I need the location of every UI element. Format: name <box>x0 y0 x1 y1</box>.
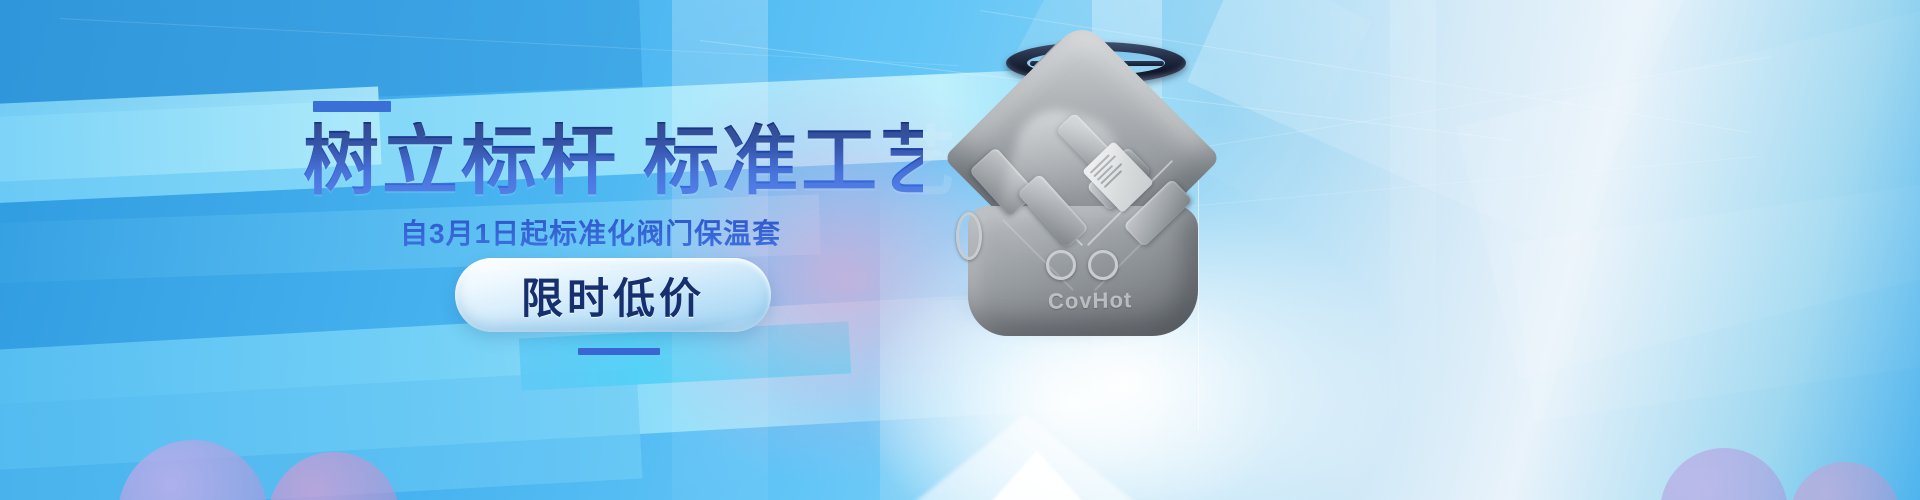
product-brand-mark: CovHot <box>1048 287 1133 314</box>
product-image-valve-insulation-jacket: CovHot <box>900 0 1330 440</box>
banner-subtitle: 自3月1日起标准化阀门保温套 <box>400 212 781 252</box>
cta-button-label: 限时低价 <box>521 265 705 326</box>
banner-headline: 树立标杆 标准工艺 <box>303 122 923 203</box>
background-wedge-4 <box>1510 179 1920 421</box>
accent-underbar-icon <box>578 348 660 355</box>
background-wedge-3 <box>1456 1 1920 379</box>
background-circle-3 <box>1660 448 1788 500</box>
background-band-column-3 <box>1390 0 1436 500</box>
jacket-d-ring <box>1088 250 1118 280</box>
background-circle-4 <box>1790 462 1900 500</box>
banner-text-block: 树立标杆 标准工艺 自3月1日起标准化阀门保温套 限时低价 <box>0 0 980 500</box>
accent-rule-icon <box>313 101 391 112</box>
promo-banner: 树立标杆 标准工艺 自3月1日起标准化阀门保温套 限时低价 <box>0 0 1920 500</box>
limited-time-price-button[interactable]: 限时低价 <box>455 258 771 332</box>
insulation-jacket-icon: CovHot <box>928 56 1228 356</box>
jacket-d-ring <box>956 212 982 260</box>
background-peak-core-shape <box>975 450 1099 500</box>
